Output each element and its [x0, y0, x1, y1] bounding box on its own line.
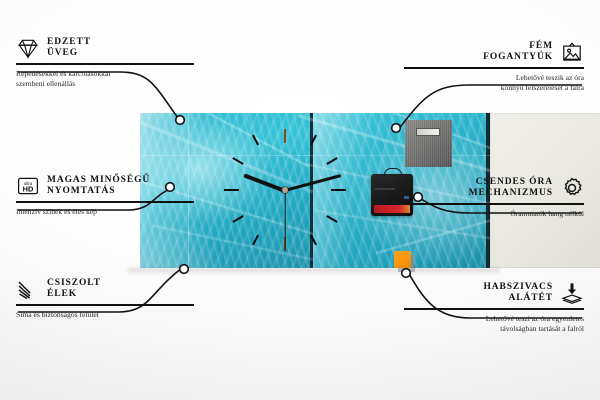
- callout-desc-line-1: Lehetővé teszi az óra egyenletes: [404, 314, 584, 325]
- callout-metal-handles: FÉM FOGANTYÚK Lehetővé teszik az óra kön…: [404, 40, 584, 94]
- infographic-canvas: EDZETT ÜVEG Repedésekkel és karcolásokka…: [0, 0, 600, 400]
- callout-divider: [404, 203, 584, 205]
- mechanism-detail-line: [375, 188, 395, 190]
- callout-divider: [16, 201, 194, 203]
- callout-polished-edges: CSISZOLT ÉLEK Sima és biztonságos felüle…: [16, 277, 194, 320]
- callout-title-line-2: MECHANIZMUS: [404, 188, 553, 199]
- mechanism-hanger-loop: [384, 168, 402, 177]
- callout-title-line-1: MAGAS MINŐSÉGŰ: [47, 175, 150, 186]
- callout-divider: [404, 308, 584, 310]
- callout-title-line-1: HABSZIVACS: [404, 282, 553, 293]
- callout-desc-line-1: Lehetővé teszik az óra: [404, 73, 584, 84]
- callout-desc-line-1: Sima és biztonságos felület: [16, 310, 194, 321]
- clock-center-cap: [282, 187, 288, 193]
- svg-text:HD: HD: [23, 185, 34, 194]
- picture-hanger-icon: [560, 40, 584, 64]
- callout-divider: [16, 63, 194, 65]
- callout-divider: [404, 67, 584, 69]
- callout-foam-pad: HABSZIVACS ALÁTÉT Lehetővé teszi az óra …: [404, 281, 584, 335]
- callout-title-line-2: ALÁTÉT: [404, 293, 553, 304]
- callout-title-line-2: NYOMTATÁS: [47, 186, 150, 197]
- metal-hanging-bracket: [405, 120, 452, 167]
- callout-desc-line-1: Repedésekkel és karcolásokkal: [16, 69, 194, 80]
- callout-title-line-2: ÜVEG: [47, 48, 91, 59]
- gear-icon: [560, 176, 584, 200]
- callout-divider: [16, 304, 194, 306]
- product-shadow: [128, 268, 500, 275]
- callout-title-line-2: ÉLEK: [47, 289, 101, 300]
- polished-edges-icon: [16, 277, 40, 301]
- clock-second-hand: [284, 190, 285, 250]
- callout-desc-line-2: könnyű felszerelését a falra: [404, 83, 584, 94]
- callout-title-line-2: FOGANTYÚK: [404, 52, 553, 63]
- callout-silent-mechanism: CSENDES ÓRA MECHANIZMUS Óramutatók hang …: [404, 176, 584, 219]
- callout-desc-line-1: Intenzív színek és éles kép: [16, 207, 194, 218]
- diamond-icon: [16, 36, 40, 60]
- callout-title-line-1: FÉM: [404, 41, 553, 52]
- foam-spacer-pad: [394, 251, 411, 268]
- bracket-slot: [417, 129, 439, 135]
- callout-desc-line-2: távolságban tartását a falról: [404, 324, 584, 335]
- callout-title-line-1: EDZETT: [47, 37, 91, 48]
- callout-hd-print: ultra HD MAGAS MINŐSÉGŰ NYOMTATÁS Intenz…: [16, 174, 194, 217]
- callout-desc-line-1: Óramutatók hang nélkül: [404, 209, 584, 220]
- ultra-hd-icon: ultra HD: [16, 174, 40, 198]
- press-pad-icon: [560, 281, 584, 305]
- callout-title-line-1: CSISZOLT: [47, 278, 101, 289]
- callout-title-line-1: CSENDES ÓRA: [404, 177, 553, 188]
- callout-desc-line-2: szembeni ellenállás: [16, 79, 194, 90]
- callout-tempered-glass: EDZETT ÜVEG Repedésekkel és karcolásokka…: [16, 36, 194, 90]
